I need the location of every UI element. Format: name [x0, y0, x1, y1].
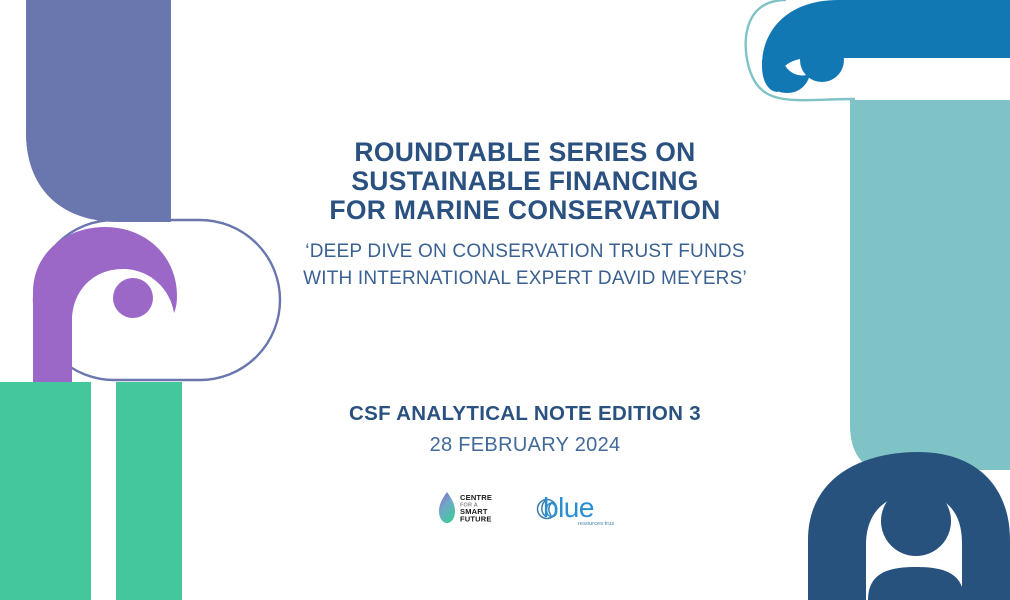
csf-line-1: CENTRE [460, 493, 492, 502]
page-subtitle: ‘DEEP DIVE ON CONSERVATION TRUST FUNDS W… [255, 238, 795, 292]
csf-line-4: FUTURE [460, 515, 492, 524]
csf-leaf-mark [439, 492, 455, 523]
brt-tagline: resources trust [578, 521, 614, 527]
poster-content: ROUNDTABLE SERIES ON SUSTAINABLE FINANCI… [0, 0, 1010, 600]
note-block: CSF ANALYTICAL NOTE EDITION 3 28 FEBRUAR… [255, 402, 795, 457]
logo-row: CENTRE FOR A SMART FUTURE blue resources… [255, 484, 795, 532]
title-line-2: SUSTAINABLE FINANCING [255, 167, 795, 196]
title-line-1: ROUNDTABLE SERIES ON [255, 138, 795, 167]
page-title: ROUNDTABLE SERIES ON SUSTAINABLE FINANCI… [255, 138, 795, 225]
brt-wordmark: blue [543, 492, 594, 523]
poster-canvas: ROUNDTABLE SERIES ON SUSTAINABLE FINANCI… [0, 0, 1010, 600]
title-line-3: FOR MARINE CONSERVATION [255, 196, 795, 225]
blue-resources-trust-logo: blue resources trust [532, 487, 614, 529]
subtitle-line-1: ‘DEEP DIVE ON CONSERVATION TRUST FUNDS [255, 238, 795, 265]
note-title: CSF ANALYTICAL NOTE EDITION 3 [255, 402, 795, 426]
subtitle-line-2: WITH INTERNATIONAL EXPERT DAVID MEYERS’ [255, 265, 795, 292]
note-date: 28 FEBRUARY 2024 [255, 434, 795, 457]
centre-for-a-smart-future-logo: CENTRE FOR A SMART FUTURE [436, 490, 508, 526]
title-block: ROUNDTABLE SERIES ON SUSTAINABLE FINANCI… [255, 138, 795, 292]
